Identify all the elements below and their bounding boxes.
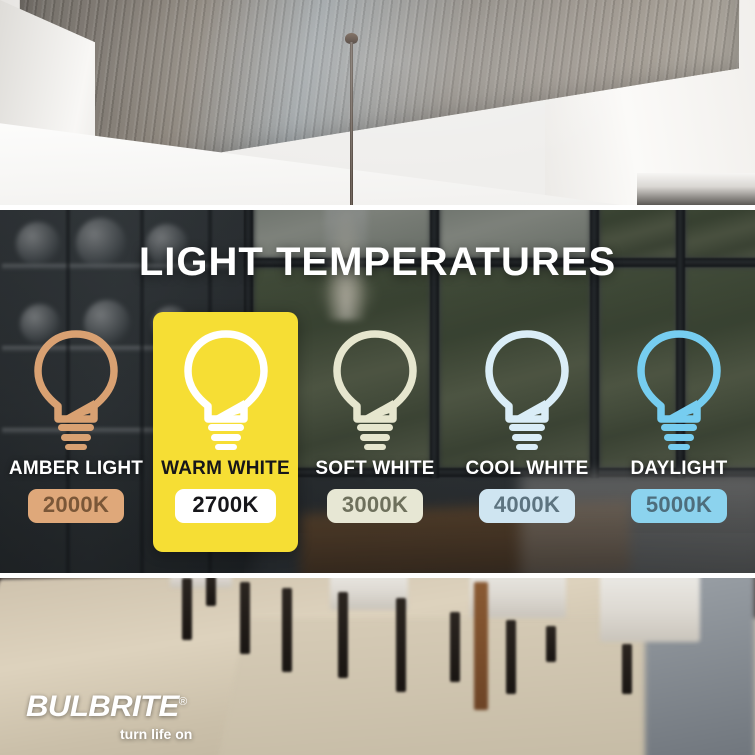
kelvin-pill: 4000K (479, 489, 575, 523)
dining-chair (600, 578, 700, 642)
chair-leg (450, 612, 460, 682)
lightbulb-icon (631, 328, 727, 450)
divider-bottom (0, 573, 755, 578)
chair-leg (282, 588, 292, 672)
registered-trademark-icon: ® (179, 696, 187, 708)
chair-leg (546, 626, 556, 662)
divider-top (0, 205, 755, 210)
lightbulb-icon (327, 328, 423, 450)
temperature-name: DAYLIGHT (631, 458, 728, 480)
temperature-card-daylight[interactable]: DAYLIGHT 5000K (603, 312, 755, 552)
logo-wordmark: BULBRITE® (26, 692, 199, 722)
page-title: LIGHT TEMPERATURES (0, 240, 755, 285)
lightbulb-icon (479, 328, 575, 450)
lightbulb-icon (28, 328, 124, 450)
dining-chair (170, 578, 232, 588)
temperature-name: COOL WHITE (465, 458, 588, 480)
table-leg (474, 582, 488, 710)
chair-leg (338, 592, 348, 678)
temperature-card-amber-light[interactable]: AMBER LIGHT 2000K (0, 312, 152, 552)
temperature-cards-row: AMBER LIGHT 2000K WARM WHITE 2700K (0, 312, 755, 552)
chair-leg (396, 598, 406, 692)
chair-leg (622, 644, 632, 694)
ceiling-photo (0, 0, 755, 207)
kelvin-pill: 2700K (175, 489, 275, 523)
kelvin-pill: 3000K (327, 489, 423, 523)
kelvin-pill: 5000K (631, 489, 727, 523)
logo-wordmark-text: BULBRITE (26, 690, 179, 723)
temperature-card-warm-white[interactable]: WARM WHITE 2700K (153, 312, 298, 552)
infographic-stage: LIGHT TEMPERATURES AMBER LIGHT 2000K (0, 0, 755, 755)
kelvin-pill: 2000K (28, 489, 124, 523)
temperature-name: WARM WHITE (161, 458, 290, 480)
bulbrite-logo: BULBRITE® turn life on (26, 692, 192, 741)
temperature-card-soft-white[interactable]: SOFT WHITE 3000K (299, 312, 451, 552)
temperature-name: AMBER LIGHT (9, 458, 143, 480)
lightbulb-icon (178, 328, 274, 450)
chair-leg (240, 582, 250, 654)
chair-leg (506, 620, 516, 694)
chair-leg (182, 578, 192, 640)
logo-tagline: turn life on (120, 727, 192, 741)
ceiling-light-haze (0, 0, 755, 207)
temperature-name: SOFT WHITE (315, 458, 434, 480)
temperature-card-cool-white[interactable]: COOL WHITE 4000K (451, 312, 603, 552)
chair-leg (206, 578, 216, 606)
